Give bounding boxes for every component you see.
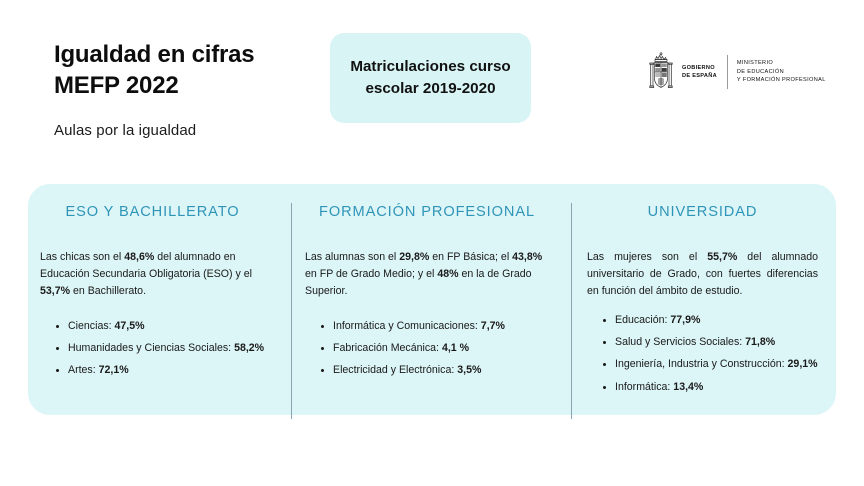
stat-value: 7,7% — [481, 320, 505, 332]
stat-value: 13,4% — [673, 381, 703, 393]
logo-ministerio-line3: Y FORMACIÓN PROFESIONAL — [737, 77, 826, 83]
stat-label: Educación: — [615, 314, 670, 326]
stat-label: Electricidad y Electrónica: — [333, 364, 457, 376]
ministry-logo: GOBIERNO DE ESPAÑA MINISTERIO DE EDUCACI… — [648, 50, 826, 94]
stat-list-item: Informática: 13,4% — [603, 381, 818, 394]
column-paragraph: Las mujeres son el 55,7% del alumnado un… — [587, 222, 818, 300]
stat-label: Fabricación Mecánica: — [333, 342, 442, 354]
stat-list-item: Electricidad y Electrónica: 3,5% — [321, 364, 549, 377]
stat-label: Salud y Servicios Sociales: — [615, 336, 745, 348]
stat-value: 77,9% — [670, 314, 700, 326]
column-heading: ESO Y BACHILLERATO — [40, 184, 265, 222]
stat-label: Informática: — [615, 381, 673, 393]
stats-columns: ESO Y BACHILLERATO Las chicas son el 48,… — [28, 184, 836, 415]
logo-ministerio-line1: MINISTERIO — [737, 60, 773, 66]
stat-value: 58,2% — [234, 342, 264, 354]
logo-ministerio-text: MINISTERIO DE EDUCACIÓN Y FORMACIÓN PROF… — [737, 59, 826, 86]
logo-gobierno-line1: GOBIERNO — [682, 65, 715, 71]
column-eso-y-bachillerato: ESO Y BACHILLERATO Las chicas son el 48,… — [28, 184, 291, 415]
stat-list-item: Ingeniería, Industria y Construcción: 29… — [603, 358, 818, 371]
stat-list-item: Ciencias: 47,5% — [56, 320, 265, 333]
stat-value: 72,1% — [99, 364, 129, 376]
badge-line1: Matriculaciones curso — [350, 58, 510, 75]
stat-list-item: Fabricación Mecánica: 4,1 % — [321, 342, 549, 355]
stat-list-item: Salud y Servicios Sociales: 71,8% — [603, 336, 818, 349]
stats-panel: ESO Y BACHILLERATO Las chicas son el 48,… — [28, 184, 836, 415]
stat-label: Ingeniería, Industria y Construcción: — [615, 358, 788, 370]
course-year-badge: Matriculaciones curso escolar 2019-2020 — [330, 33, 531, 123]
column-universidad: UNIVERSIDAD Las mujeres son el 55,7% del… — [571, 184, 836, 415]
badge-line2: escolar 2019-2020 — [365, 80, 495, 97]
column-list-wrap: Informática y Comunicaciones: 7,7%Fabric… — [305, 300, 549, 378]
stat-label: Ciencias: — [68, 320, 115, 332]
stat-list-item: Informática y Comunicaciones: 7,7% — [321, 320, 549, 333]
column-list-wrap: Ciencias: 47,5%Humanidades y Ciencias So… — [40, 300, 265, 378]
stat-list-item: Artes: 72,1% — [56, 364, 265, 377]
stat-value: 71,8% — [745, 336, 775, 348]
stat-value: 29,1% — [788, 358, 818, 370]
stat-label: Informática y Comunicaciones: — [333, 320, 481, 332]
page-title-line1: Igualdad en cifras — [54, 41, 254, 68]
spain-coat-of-arms-icon — [648, 52, 674, 92]
stat-list: Educación: 77,9%Salud y Servicios Social… — [587, 314, 818, 394]
logo-divider — [727, 55, 728, 89]
title-block: Igualdad en cifras MEFP 2022 Aulas por l… — [54, 40, 334, 139]
stat-list: Informática y Comunicaciones: 7,7%Fabric… — [305, 320, 549, 378]
infographic-root: Igualdad en cifras MEFP 2022 Aulas por l… — [0, 0, 864, 486]
stat-label: Artes: — [68, 364, 99, 376]
column-paragraph: Las chicas son el 48,6% del alumnado en … — [40, 222, 265, 300]
logo-gobierno-line2: DE ESPAÑA — [682, 73, 717, 79]
stat-list-item: Educación: 77,9% — [603, 314, 818, 327]
stat-list: Ciencias: 47,5%Humanidades y Ciencias So… — [40, 320, 265, 378]
page-title: Igualdad en cifras MEFP 2022 — [54, 40, 334, 101]
logo-gobierno-text: GOBIERNO DE ESPAÑA — [682, 64, 717, 80]
stat-label: Humanidades y Ciencias Sociales: — [68, 342, 234, 354]
column-paragraph: Las alumnas son el 29,8% en FP Básica; e… — [305, 222, 549, 300]
stat-value: 47,5% — [115, 320, 145, 332]
logo-ministerio-line2: DE EDUCACIÓN — [737, 69, 784, 75]
page-subtitle: Aulas por la igualdad — [54, 101, 334, 139]
stat-value: 3,5% — [457, 364, 481, 376]
stat-value: 4,1 % — [442, 342, 469, 354]
column-heading: UNIVERSIDAD — [587, 184, 818, 222]
course-year-badge-text: Matriculaciones curso escolar 2019-2020 — [350, 56, 510, 100]
column-list-wrap: Educación: 77,9%Salud y Servicios Social… — [587, 300, 818, 394]
header: Igualdad en cifras MEFP 2022 Aulas por l… — [0, 0, 864, 175]
column-formacion-profesional: FORMACIÓN PROFESIONAL Las alumnas son el… — [291, 184, 571, 415]
column-heading: FORMACIÓN PROFESIONAL — [305, 184, 549, 222]
stat-list-item: Humanidades y Ciencias Sociales: 58,2% — [56, 342, 265, 355]
page-title-line2: MEFP 2022 — [54, 71, 334, 102]
